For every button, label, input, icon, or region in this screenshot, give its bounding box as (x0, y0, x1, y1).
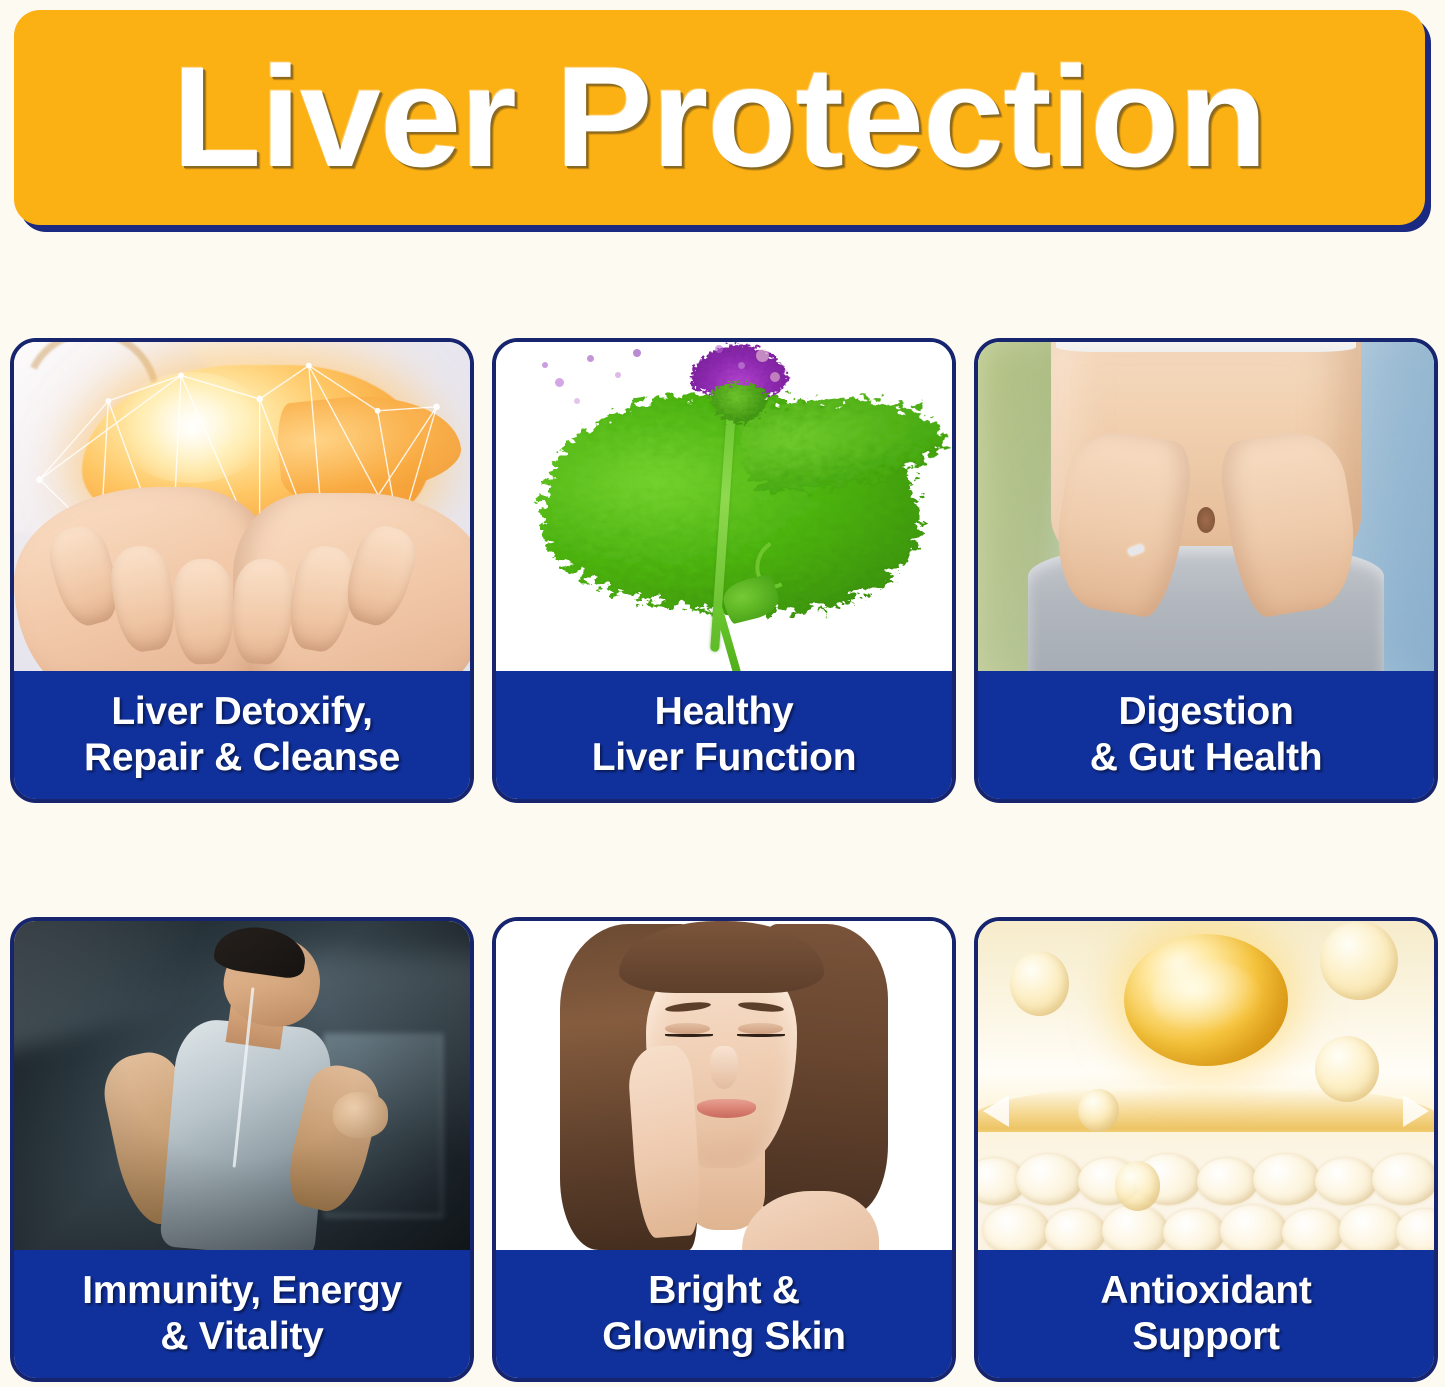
skin-cell-layer (978, 1151, 1434, 1250)
card-label-line2: & Vitality (160, 1314, 323, 1360)
benefit-card-liver-detoxify[interactable]: Liver Detoxify, Repair & Cleanse (10, 338, 474, 803)
absorption-arrow-left-icon (983, 1095, 1009, 1127)
title-banner: Liver Protection (14, 10, 1431, 232)
card-label-line1: Immunity, Energy (82, 1268, 402, 1314)
hands-heart-on-abdomen-image (978, 342, 1434, 671)
benefit-card-immunity-energy-vitality[interactable]: Immunity, Energy & Vitality (10, 917, 474, 1382)
athlete-running-in-gym-image (14, 921, 470, 1250)
benefit-card-antioxidant-support[interactable]: Antioxidant Support (974, 917, 1438, 1382)
card-label-liver-detoxify: Liver Detoxify, Repair & Cleanse (14, 671, 470, 799)
absorption-arrow-right-icon (1403, 1095, 1429, 1127)
benefit-card-grid: Liver Detoxify, Repair & Cleanse (10, 338, 1438, 1382)
card-label-line2: Support (1132, 1314, 1279, 1360)
card-label-line2: Glowing Skin (602, 1314, 845, 1360)
card-label-digestion-gut-health: Digestion & Gut Health (978, 671, 1434, 799)
card-label-line2: Liver Function (592, 735, 856, 781)
benefit-card-bright-glowing-skin[interactable]: Bright & Glowing Skin (492, 917, 956, 1382)
page-title: Liver Protection (172, 46, 1266, 189)
benefit-card-digestion-gut-health[interactable]: Digestion & Gut Health (974, 338, 1438, 803)
card-label-line2: Repair & Cleanse (84, 735, 400, 781)
card-label-line1: Healthy (655, 689, 794, 735)
card-label-antioxidant-support: Antioxidant Support (978, 1250, 1434, 1378)
card-label-bright-glowing-skin: Bright & Glowing Skin (496, 1250, 952, 1378)
card-label-healthy-liver-function: Healthy Liver Function (496, 671, 952, 799)
hands-holding-glowing-liver-image (14, 342, 470, 671)
benefit-card-healthy-liver-function[interactable]: Healthy Liver Function (492, 338, 956, 803)
card-label-line2: & Gut Health (1090, 735, 1323, 781)
golden-serum-droplet-skin-layers-image (978, 921, 1434, 1250)
card-label-line1: Bright & (648, 1268, 799, 1314)
green-leafy-liver-milk-thistle-image (496, 342, 952, 671)
liver-protection-infographic: Liver Protection (0, 0, 1445, 1387)
card-label-immunity-energy-vitality: Immunity, Energy & Vitality (14, 1250, 470, 1378)
card-label-line1: Digestion (1119, 689, 1294, 735)
sparkle-particles (496, 342, 952, 671)
card-label-line1: Liver Detoxify, (111, 689, 372, 735)
card-label-line1: Antioxidant (1100, 1268, 1311, 1314)
woman-touching-face-glowing-skin-image (496, 921, 952, 1250)
banner-body: Liver Protection (14, 10, 1425, 225)
